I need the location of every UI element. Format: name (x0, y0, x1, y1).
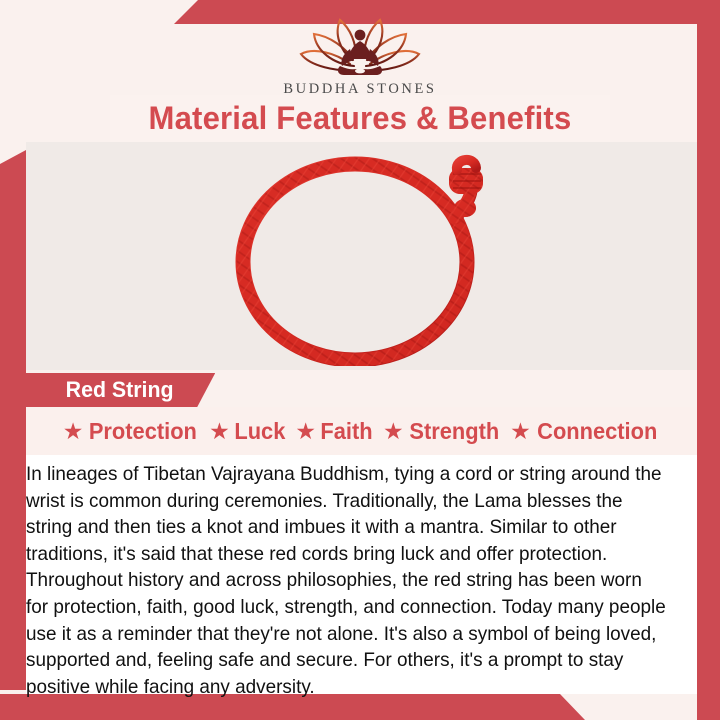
benefit-label: Luck (234, 418, 285, 445)
page-title-banner: Material Features & Benefits (110, 95, 610, 142)
benefit-item-luck: ★ Luck (209, 418, 286, 445)
benefit-label: Protection (89, 418, 197, 445)
description-text: In lineages of Tibetan Vajrayana Buddhis… (26, 461, 667, 700)
star-icon: ★ (63, 420, 84, 443)
star-icon: ★ (295, 420, 316, 443)
product-name: Red String (66, 377, 174, 403)
benefit-item-strength: ★ Strength (383, 418, 501, 445)
brand-logo: BUDDHA STONES (0, 16, 720, 98)
product-photo-area (26, 142, 697, 370)
benefit-label: Connection (537, 418, 657, 445)
benefit-label: Faith (320, 418, 372, 445)
infographic-page: BUDDHA STONES Material Features & Benefi… (0, 0, 720, 720)
frame-left-bar (0, 150, 26, 690)
benefit-label: Strength (409, 418, 499, 445)
benefit-item-connection: ★ Connection (510, 418, 660, 445)
star-icon: ★ (510, 420, 531, 443)
lotus-meditation-icon (296, 16, 424, 78)
frame-right-bar (697, 24, 720, 720)
description-panel: In lineages of Tibetan Vajrayana Buddhis… (26, 455, 697, 694)
benefits-row: ★ Protection ★ Luck ★ Faith ★ Strength ★… (26, 407, 697, 455)
page-title: Material Features & Benefits (149, 100, 572, 137)
benefit-item-protection: ★ Protection (63, 418, 200, 445)
star-icon: ★ (209, 420, 230, 443)
product-name-ribbon: Red String (26, 373, 215, 407)
red-braided-cord-bracelet (227, 150, 497, 366)
star-icon: ★ (383, 420, 404, 443)
benefit-item-faith: ★ Faith (295, 418, 374, 445)
